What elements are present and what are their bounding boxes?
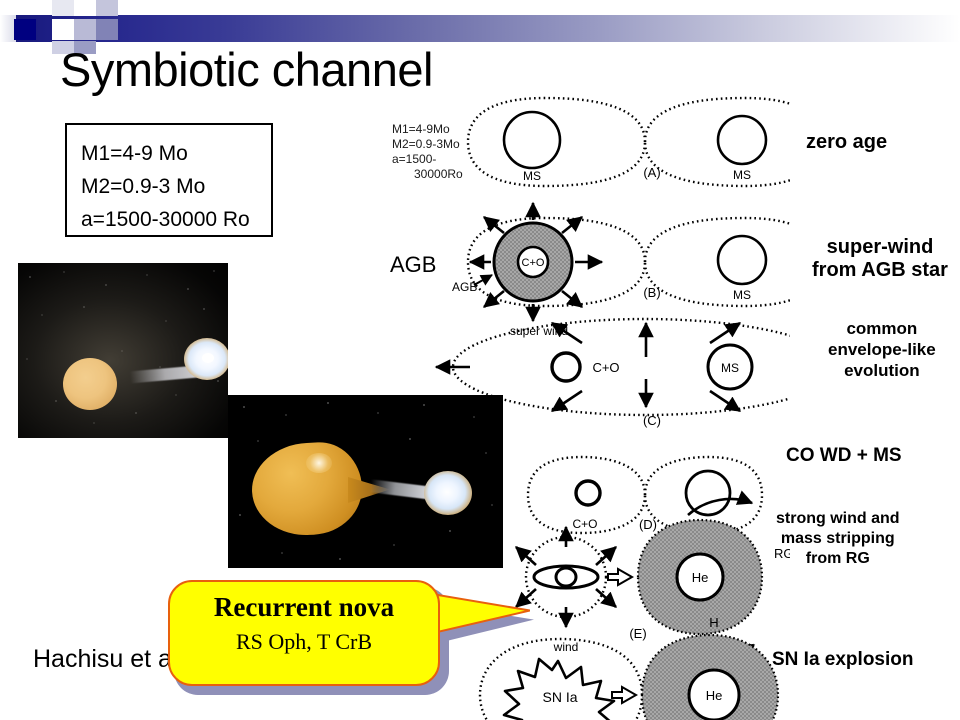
mass-transfer-arrow-f — [612, 687, 636, 703]
white-dwarf-e — [556, 568, 576, 586]
param-line-m1: M1=4-9 Mo — [81, 137, 271, 170]
label-c-left: C+O — [592, 360, 619, 375]
star-a-right — [718, 116, 766, 164]
panel-id-a: (A) — [643, 165, 660, 180]
annotation-common-envelope: common envelope-like evolution — [828, 318, 936, 381]
panel-id-b: (B) — [643, 285, 660, 300]
slide-canvas: Symbiotic channel M1=4-9 Mo M2=0.9-3 Mo … — [0, 0, 960, 720]
annotation-super-wind-line2: from AGB star — [812, 259, 948, 282]
star-c-left — [552, 353, 580, 381]
citation-text: Hachisu et a — [33, 645, 172, 674]
header-mosaic-square — [52, 19, 74, 40]
diagram-param-a: a=1500- — [392, 152, 463, 167]
diagram-parameter-text: M1=4-9Mo M2=0.9-3Mo a=1500- 30000Ro — [392, 122, 463, 182]
label-a-left: MS — [523, 169, 541, 183]
giant-highlight — [306, 453, 332, 473]
red-giant-star — [63, 358, 117, 410]
annotation-strong-line2: mass stripping — [776, 529, 900, 549]
param-line-a: a=1500-30000 Ro — [81, 203, 271, 236]
panel-c: C+O MS (C) — [436, 319, 790, 428]
diagram-param-a-cont: 30000Ro — [392, 167, 463, 182]
annotation-common-line3: evolution — [828, 360, 936, 381]
parameter-box: M1=4-9 Mo M2=0.9-3 Mo a=1500-30000 Ro — [65, 123, 273, 237]
label-e-core: He — [692, 570, 709, 585]
label-c-right: MS — [721, 361, 739, 375]
callout-title: Recurrent nova — [168, 592, 440, 623]
star-d-left — [576, 481, 600, 505]
param-line-m2: M2=0.9-3 Mo — [81, 170, 271, 203]
header-mosaic-square — [96, 0, 118, 16]
header-mosaic-square — [74, 19, 96, 40]
mass-transfer-arrow-e — [608, 569, 632, 585]
label-f-sn: SN Ia — [542, 689, 577, 705]
annotation-zero-age: zero age — [806, 131, 887, 154]
annotation-common-line2: envelope-like — [828, 339, 936, 360]
header-gradient-bar — [0, 15, 960, 42]
header-mosaic-square — [96, 19, 118, 40]
annotation-sn-ia-explosion: SN Ia explosion — [772, 648, 913, 671]
annotation-super-wind-line1: super-wind — [812, 236, 948, 259]
panel-id-c: (C) — [643, 413, 661, 428]
annotation-common-line1: common — [828, 318, 936, 339]
annotation-super-wind: super-wind from AGB star — [812, 236, 948, 282]
diagram-param-m1: M1=4-9Mo — [392, 122, 463, 137]
agb-stage-label: AGB — [390, 252, 436, 278]
recurrent-nova-callout: Recurrent nova RS Oph, T CrB — [168, 578, 538, 700]
star-a-left — [504, 112, 560, 168]
annotation-strong-line3: from RG — [776, 549, 900, 569]
label-a-right: MS — [733, 168, 751, 182]
star-b-right — [718, 236, 766, 284]
header-mosaic-accent-square — [14, 19, 36, 40]
label-e-wind: wind — [553, 640, 579, 654]
label-f-h: H — [709, 615, 718, 630]
annotation-co-wd-ms: CO WD + MS — [786, 444, 902, 467]
annotation-strong-line1: strong wind and — [776, 509, 900, 529]
white-dwarf-core — [202, 353, 214, 363]
header-mosaic-square — [52, 0, 74, 16]
callout-subtitle: RS Oph, T CrB — [168, 629, 440, 655]
label-f-core: He — [706, 688, 723, 703]
annotation-strong-wind: strong wind and mass stripping from RG — [776, 509, 900, 569]
page-title: Symbiotic channel — [60, 42, 433, 97]
label-agb-small: AGB — [452, 280, 477, 294]
panel-id-e: (E) — [629, 626, 646, 641]
header-mosaic-square — [74, 0, 96, 16]
panel-id-d: (D) — [639, 517, 657, 532]
label-d-left: C+O — [572, 517, 597, 531]
star-d-right — [686, 471, 730, 515]
artist-image-detached-binary — [18, 263, 228, 438]
label-b-right: MS — [733, 288, 751, 302]
label-b-core: C+O — [522, 257, 545, 269]
diagram-param-m2: M2=0.9-3Mo — [392, 137, 463, 152]
